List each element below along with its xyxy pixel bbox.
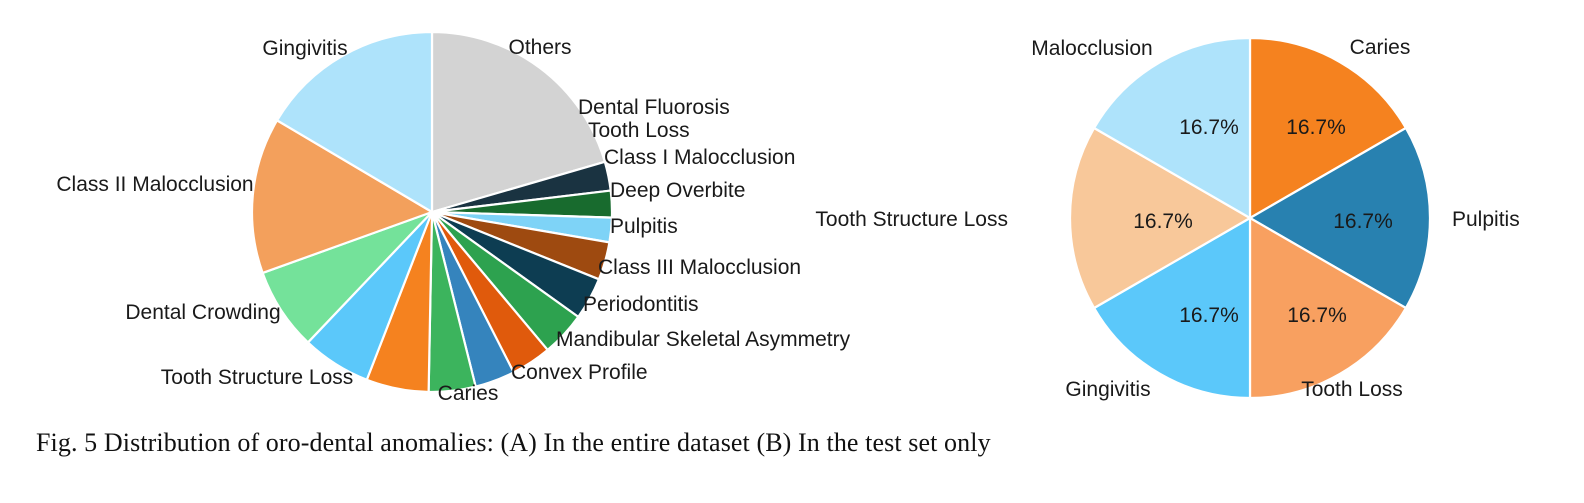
pie-slice-label: Caries [1350, 36, 1411, 59]
pie-slice-label: Pulpitis [1452, 208, 1520, 231]
pie-slice-label: Mandibular Skeletal Asymmetry [556, 328, 851, 351]
pie-percent-label: 16.7% [1179, 304, 1239, 327]
pie-slice-label: Gingivitis [1065, 378, 1150, 401]
pie-percent-label: 16.7% [1287, 304, 1347, 327]
pie-percent-label: 16.7% [1333, 210, 1393, 233]
pie-slice-label: Tooth Loss [588, 119, 690, 142]
pie-chart-panel-b: 16.7%16.7%16.7%16.7%16.7%16.7% Malocclus… [880, 0, 1584, 430]
pie-slice-label: Class II Malocclusion [56, 173, 253, 196]
pie-slice-label: Convex Profile [511, 361, 648, 384]
pie-percent-label: 16.7% [1286, 116, 1346, 139]
pie-slice-label: Deep Overbite [610, 179, 745, 202]
pie-slice-label: Others [508, 36, 571, 59]
pie-slice-label: Pulpitis [610, 215, 678, 238]
pie-slice-label: Malocclusion [1031, 37, 1152, 60]
pie-a-svg: GingivitisOthersDental FluorosisTooth Lo… [0, 0, 880, 430]
pie-slice-label: Tooth Structure Loss [161, 366, 354, 389]
pie-slice-label: Dental Fluorosis [578, 96, 730, 119]
figure-caption: Fig. 5 Distribution of oro-dental anomal… [36, 428, 1556, 458]
pie-b-svg: 16.7%16.7%16.7%16.7%16.7%16.7% Malocclus… [880, 0, 1584, 430]
figure-container: GingivitisOthersDental FluorosisTooth Lo… [0, 0, 1584, 503]
pie-slice-label: Caries [438, 382, 499, 405]
pie-slice-label: Tooth Structure Loss [815, 208, 1008, 231]
pie-slice-label: Tooth Loss [1301, 378, 1403, 401]
pie-slice-label: Gingivitis [262, 37, 347, 60]
pie-slice-label: Dental Crowding [125, 301, 280, 324]
pie-slice-label: Class I Malocclusion [604, 146, 795, 169]
pie-percent-label: 16.7% [1179, 116, 1239, 139]
pie-chart-panel-a: GingivitisOthersDental FluorosisTooth Lo… [0, 0, 880, 430]
pie-slice-label: Class III Malocclusion [598, 256, 801, 279]
pie-percent-label: 16.7% [1133, 210, 1193, 233]
pie-slice-label: Periodontitis [583, 293, 699, 316]
